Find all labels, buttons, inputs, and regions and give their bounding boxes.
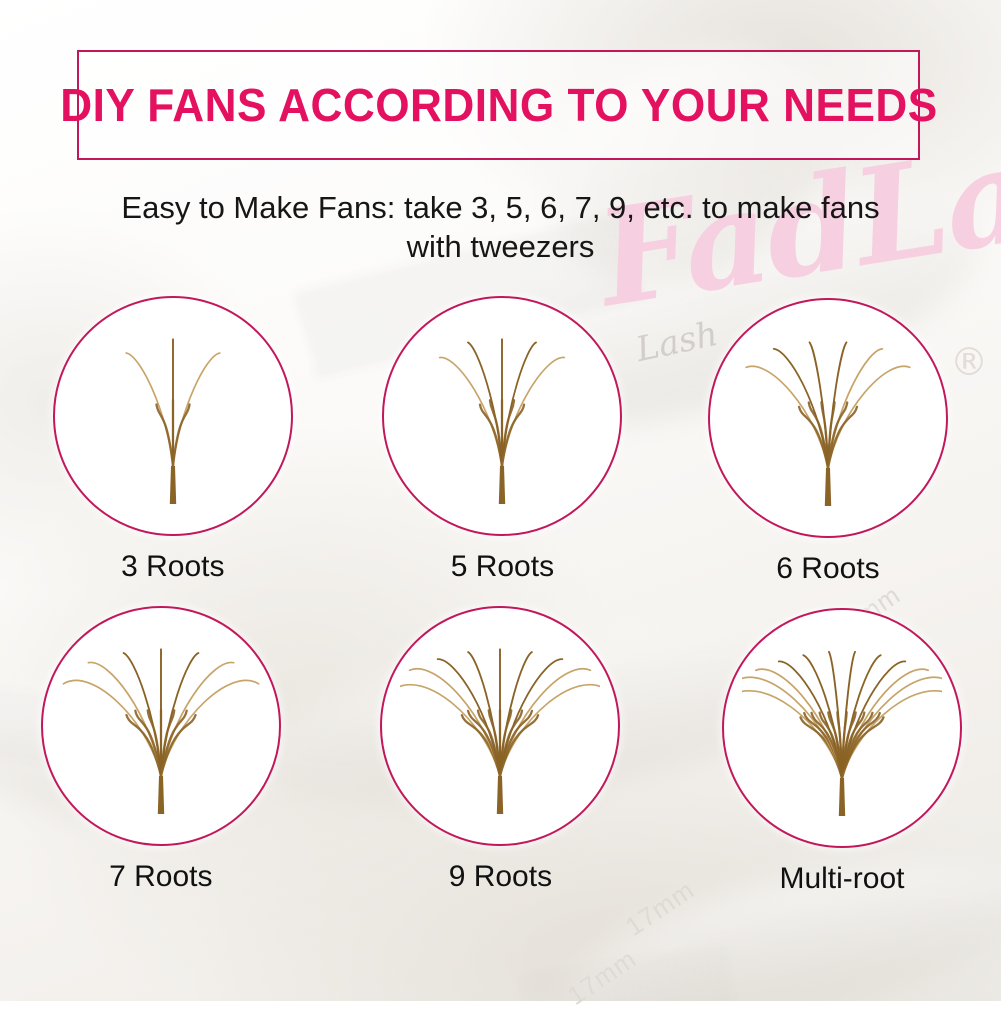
subtitle-line-1: Easy to Make Fans: take 3, 5, 6, 7, 9, e… (60, 188, 941, 227)
fan-circle (708, 298, 948, 538)
title-banner: DIY FANS ACCORDING TO YOUR NEEDS (77, 50, 920, 160)
lash-fan-multi-icon (742, 628, 942, 828)
lash-fan-9-icon (400, 626, 600, 826)
fan-card-9-roots[interactable]: 9 Roots (334, 606, 668, 894)
fan-row-bottom: 7 Roots 9 Roots Multi-root (0, 606, 1001, 894)
fan-circle (380, 606, 620, 846)
fan-label: Multi-root (779, 862, 904, 896)
fan-card-3-roots[interactable]: 3 Roots (6, 296, 340, 584)
fan-label: 3 Roots (121, 550, 224, 584)
lash-fan-7-icon (61, 626, 261, 826)
fan-label: 5 Roots (451, 550, 554, 584)
fan-row-top: 3 Roots 5 Roots 6 Roots (0, 296, 1001, 584)
fan-circle (382, 296, 622, 536)
fan-label: 9 Roots (449, 860, 552, 894)
fan-label: 6 Roots (776, 552, 879, 586)
page-title: DIY FANS ACCORDING TO YOUR NEEDS (60, 78, 937, 132)
lash-fan-5-icon (402, 316, 602, 516)
lash-fan-3-icon (73, 316, 273, 516)
fan-grid: 3 Roots 5 Roots 6 Roots 7 Roots 9 Roo (0, 296, 1001, 894)
subtitle-line-2: with tweezers (60, 227, 941, 266)
fan-circle (722, 608, 962, 848)
fan-circle (53, 296, 293, 536)
lash-fan-6-icon (728, 318, 928, 518)
subtitle: Easy to Make Fans: take 3, 5, 6, 7, 9, e… (60, 188, 941, 266)
fan-card-6-roots[interactable]: 6 Roots (661, 298, 995, 586)
fan-label: 7 Roots (109, 860, 212, 894)
fan-card-5-roots[interactable]: 5 Roots (336, 296, 670, 584)
fan-circle (41, 606, 281, 846)
fan-card-multi-root[interactable]: Multi-root (675, 608, 1001, 896)
fan-card-7-roots[interactable]: 7 Roots (0, 606, 328, 894)
